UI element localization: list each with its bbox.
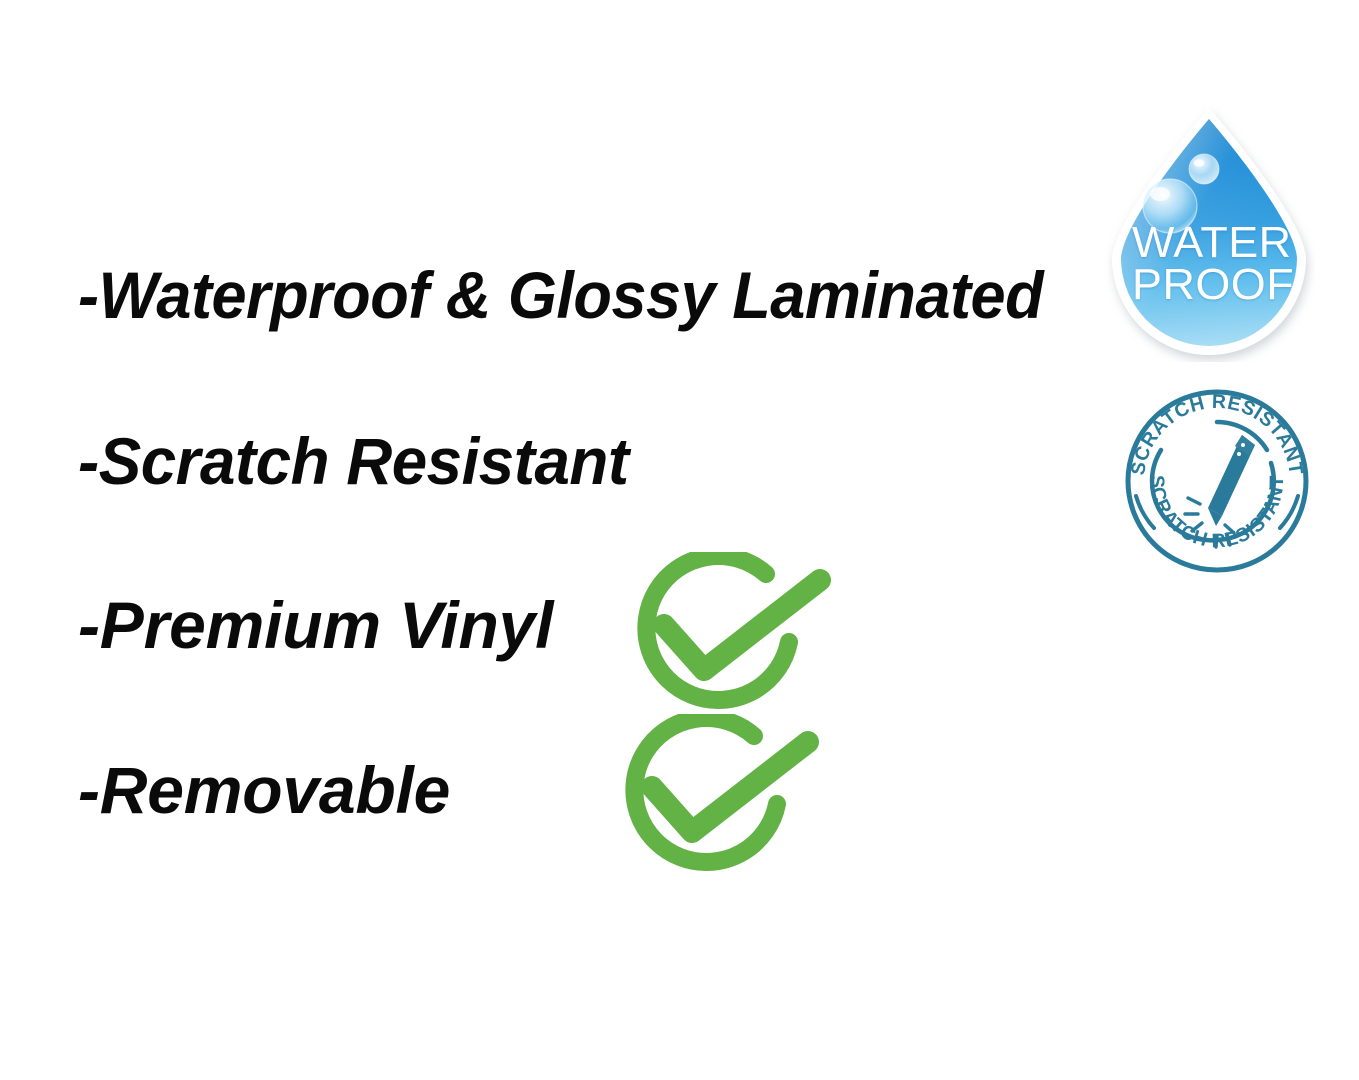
knife-rivet-2 <box>1237 452 1241 456</box>
waterproof-badge <box>1103 106 1315 362</box>
check-badge-1 <box>636 552 846 717</box>
product-feature-graphic: -Waterproof & Glossy Laminated -Scratch … <box>0 0 1359 1080</box>
feature-line-premium-vinyl: -Premium Vinyl <box>78 592 553 658</box>
water-bubble-large-glint <box>1150 187 1170 201</box>
water-bubble-large <box>1143 179 1197 233</box>
knife-rivet-1 <box>1241 443 1245 447</box>
scratch-resistant-badge: SCRATCH RESISTANT SCRATCH RESISTANT <box>1124 388 1310 574</box>
knife-stamp-icon: SCRATCH RESISTANT SCRATCH RESISTANT <box>1124 388 1310 574</box>
check-badge-2 <box>624 714 834 879</box>
drop-highlight <box>1121 119 1297 346</box>
check-mark-stroke <box>652 742 808 832</box>
check-circle-icon <box>624 714 834 879</box>
feature-line-waterproof-glossy: -Waterproof & Glossy Laminated <box>78 262 1043 328</box>
water-bubble-small <box>1189 154 1219 184</box>
check-circle-icon <box>636 552 846 717</box>
check-mark-stroke <box>664 580 820 670</box>
water-bubble-small-glint <box>1194 159 1205 167</box>
feature-line-scratch-resistant: -Scratch Resistant <box>78 428 629 494</box>
impact-line-1 <box>1188 498 1200 504</box>
feature-line-removable: -Removable <box>78 757 450 823</box>
water-drop-icon <box>1103 106 1315 362</box>
